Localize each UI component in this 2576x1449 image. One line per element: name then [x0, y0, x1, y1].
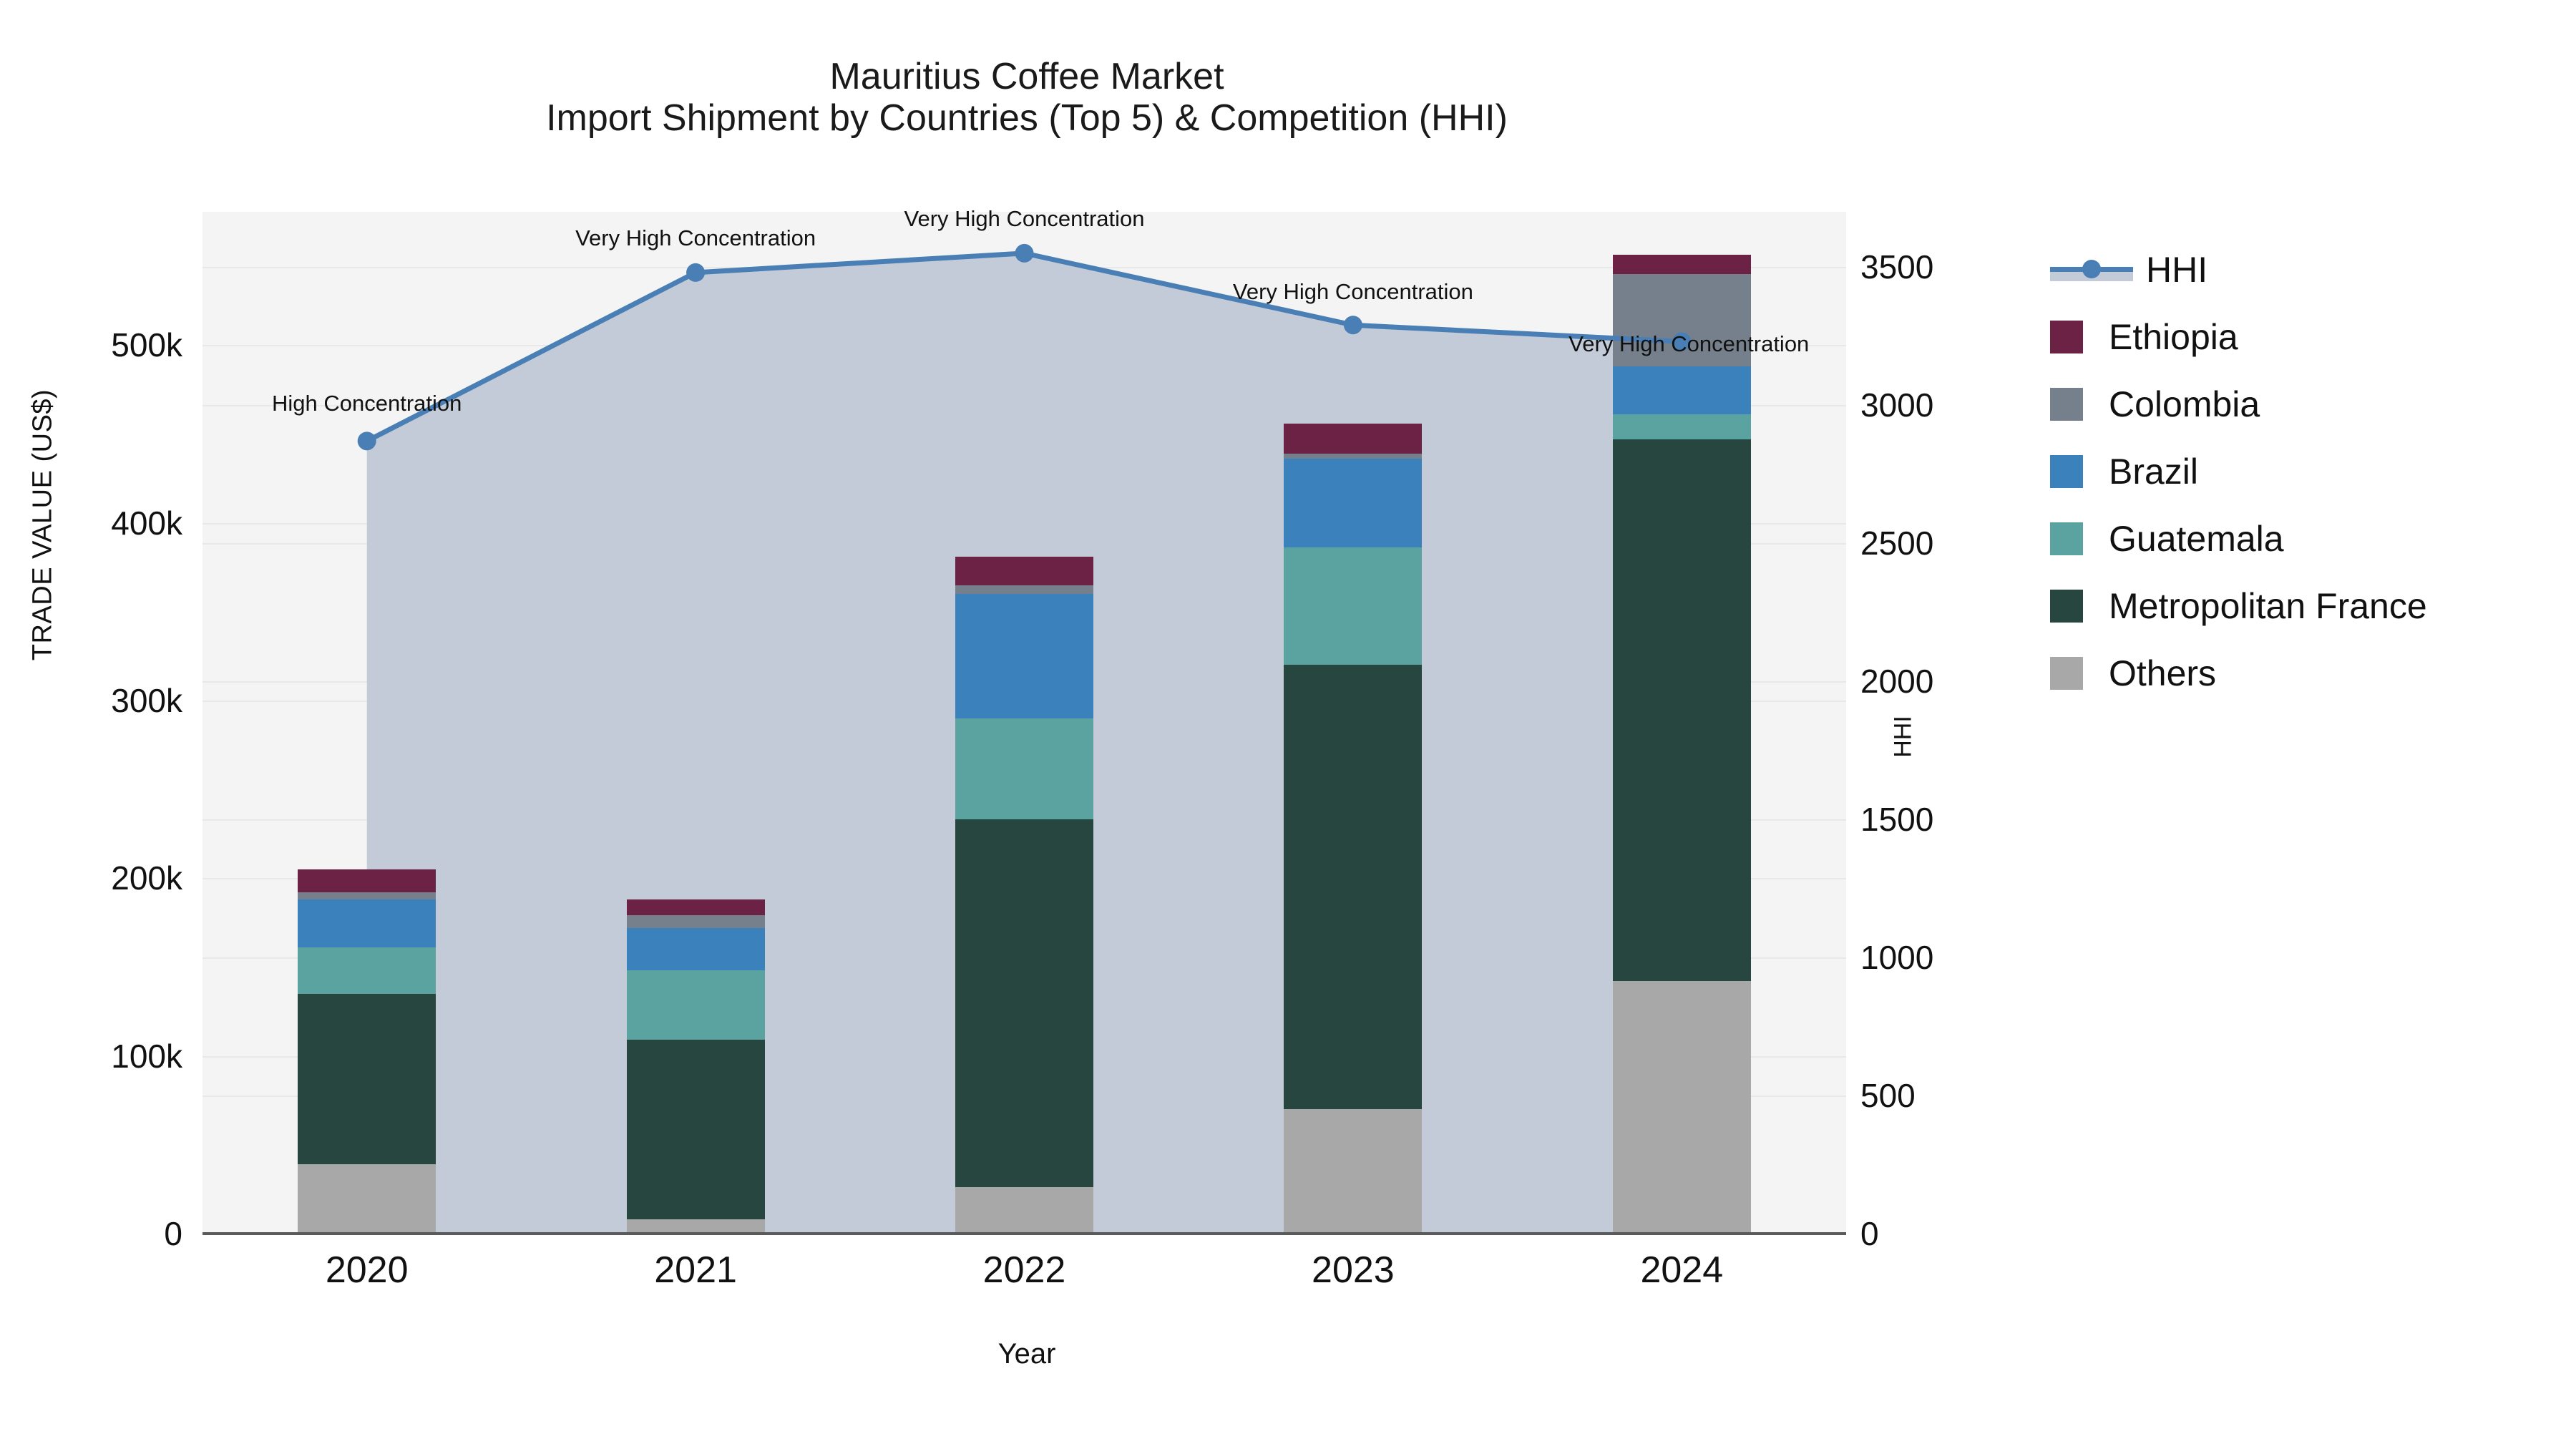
hhi-line-series: [203, 212, 1846, 1234]
legend-item[interactable]: Ethiopia: [2050, 303, 2565, 371]
color-swatch-icon: [2050, 657, 2083, 690]
concentration-annotation: Very High Concentration: [575, 225, 816, 251]
legend-item-label: HHI: [2146, 249, 2207, 291]
x-axis-label: Year: [0, 1338, 2054, 1370]
y-axis-left-tick-label: 200k: [0, 859, 182, 897]
hhi-data-point[interactable]: [1015, 244, 1034, 263]
y-axis-right-tick-label: 3000: [1860, 386, 1933, 424]
color-swatch-icon: [2050, 455, 2083, 488]
y-axis-left-tick-label: 0: [0, 1214, 182, 1253]
concentration-annotation: High Concentration: [272, 391, 462, 416]
color-swatch-icon: [2050, 388, 2083, 421]
line-marker-icon: [2050, 253, 2133, 286]
hhi-data-point[interactable]: [358, 431, 376, 450]
legend-item-label: Brazil: [2109, 451, 2198, 492]
chart-title-line-1: Mauritius Coffee Market: [0, 56, 2054, 97]
legend-item-label: Guatemala: [2109, 518, 2284, 560]
legend-item[interactable]: Metropolitan France: [2050, 572, 2565, 640]
concentration-annotation: Very High Concentration: [1568, 331, 1809, 357]
plot-inner: [203, 212, 1846, 1234]
legend-item[interactable]: Guatemala: [2050, 505, 2565, 572]
legend-item[interactable]: Others: [2050, 640, 2565, 707]
legend-item[interactable]: Brazil: [2050, 438, 2565, 505]
y-axis-right-tick-label: 3500: [1860, 248, 1933, 286]
legend-item[interactable]: Colombia: [2050, 371, 2565, 438]
x-axis-tick-label: 2021: [654, 1249, 737, 1292]
x-axis-line: [203, 1232, 1846, 1235]
legend-item-label: Colombia: [2109, 384, 2260, 425]
legend-item-label: Metropolitan France: [2109, 585, 2427, 627]
y-axis-left-tick-label: 100k: [0, 1037, 182, 1075]
concentration-annotation: Very High Concentration: [904, 206, 1144, 232]
y-axis-right-tick-label: 1000: [1860, 938, 1933, 977]
hhi-data-point[interactable]: [1344, 316, 1362, 334]
color-swatch-icon: [2050, 590, 2083, 623]
x-axis-tick-label: 2023: [1312, 1249, 1395, 1292]
y-axis-right-tick-label: 500: [1860, 1076, 1916, 1115]
legend-item-label: Ethiopia: [2109, 316, 2238, 358]
x-axis-tick-label: 2024: [1640, 1249, 1723, 1292]
concentration-annotation: Very High Concentration: [1233, 279, 1473, 305]
hhi-data-point[interactable]: [686, 263, 705, 282]
x-axis-tick-label: 2022: [983, 1249, 1066, 1292]
x-axis-tick-label: 2020: [326, 1249, 409, 1292]
chart-title: Mauritius Coffee Market Import Shipment …: [0, 56, 2054, 139]
chart-title-line-2: Import Shipment by Countries (Top 5) & C…: [0, 97, 2054, 139]
legend-item[interactable]: HHI: [2050, 236, 2565, 303]
chart-canvas: Mauritius Coffee Market Import Shipment …: [0, 0, 2576, 1449]
hhi-line: [367, 253, 1682, 441]
chart-legend: HHIEthiopiaColombiaBrazilGuatemalaMetrop…: [2050, 236, 2565, 707]
y-axis-right-label: HHI: [1890, 665, 1918, 809]
color-swatch-icon: [2050, 522, 2083, 555]
legend-item-label: Others: [2109, 653, 2216, 694]
color-swatch-icon: [2050, 321, 2083, 353]
y-axis-right-tick-label: 0: [1860, 1214, 1879, 1253]
y-axis-right-tick-label: 2500: [1860, 524, 1933, 562]
y-axis-left-label: TRADE VALUE (US$): [28, 311, 59, 740]
plot-area: [203, 212, 1846, 1234]
